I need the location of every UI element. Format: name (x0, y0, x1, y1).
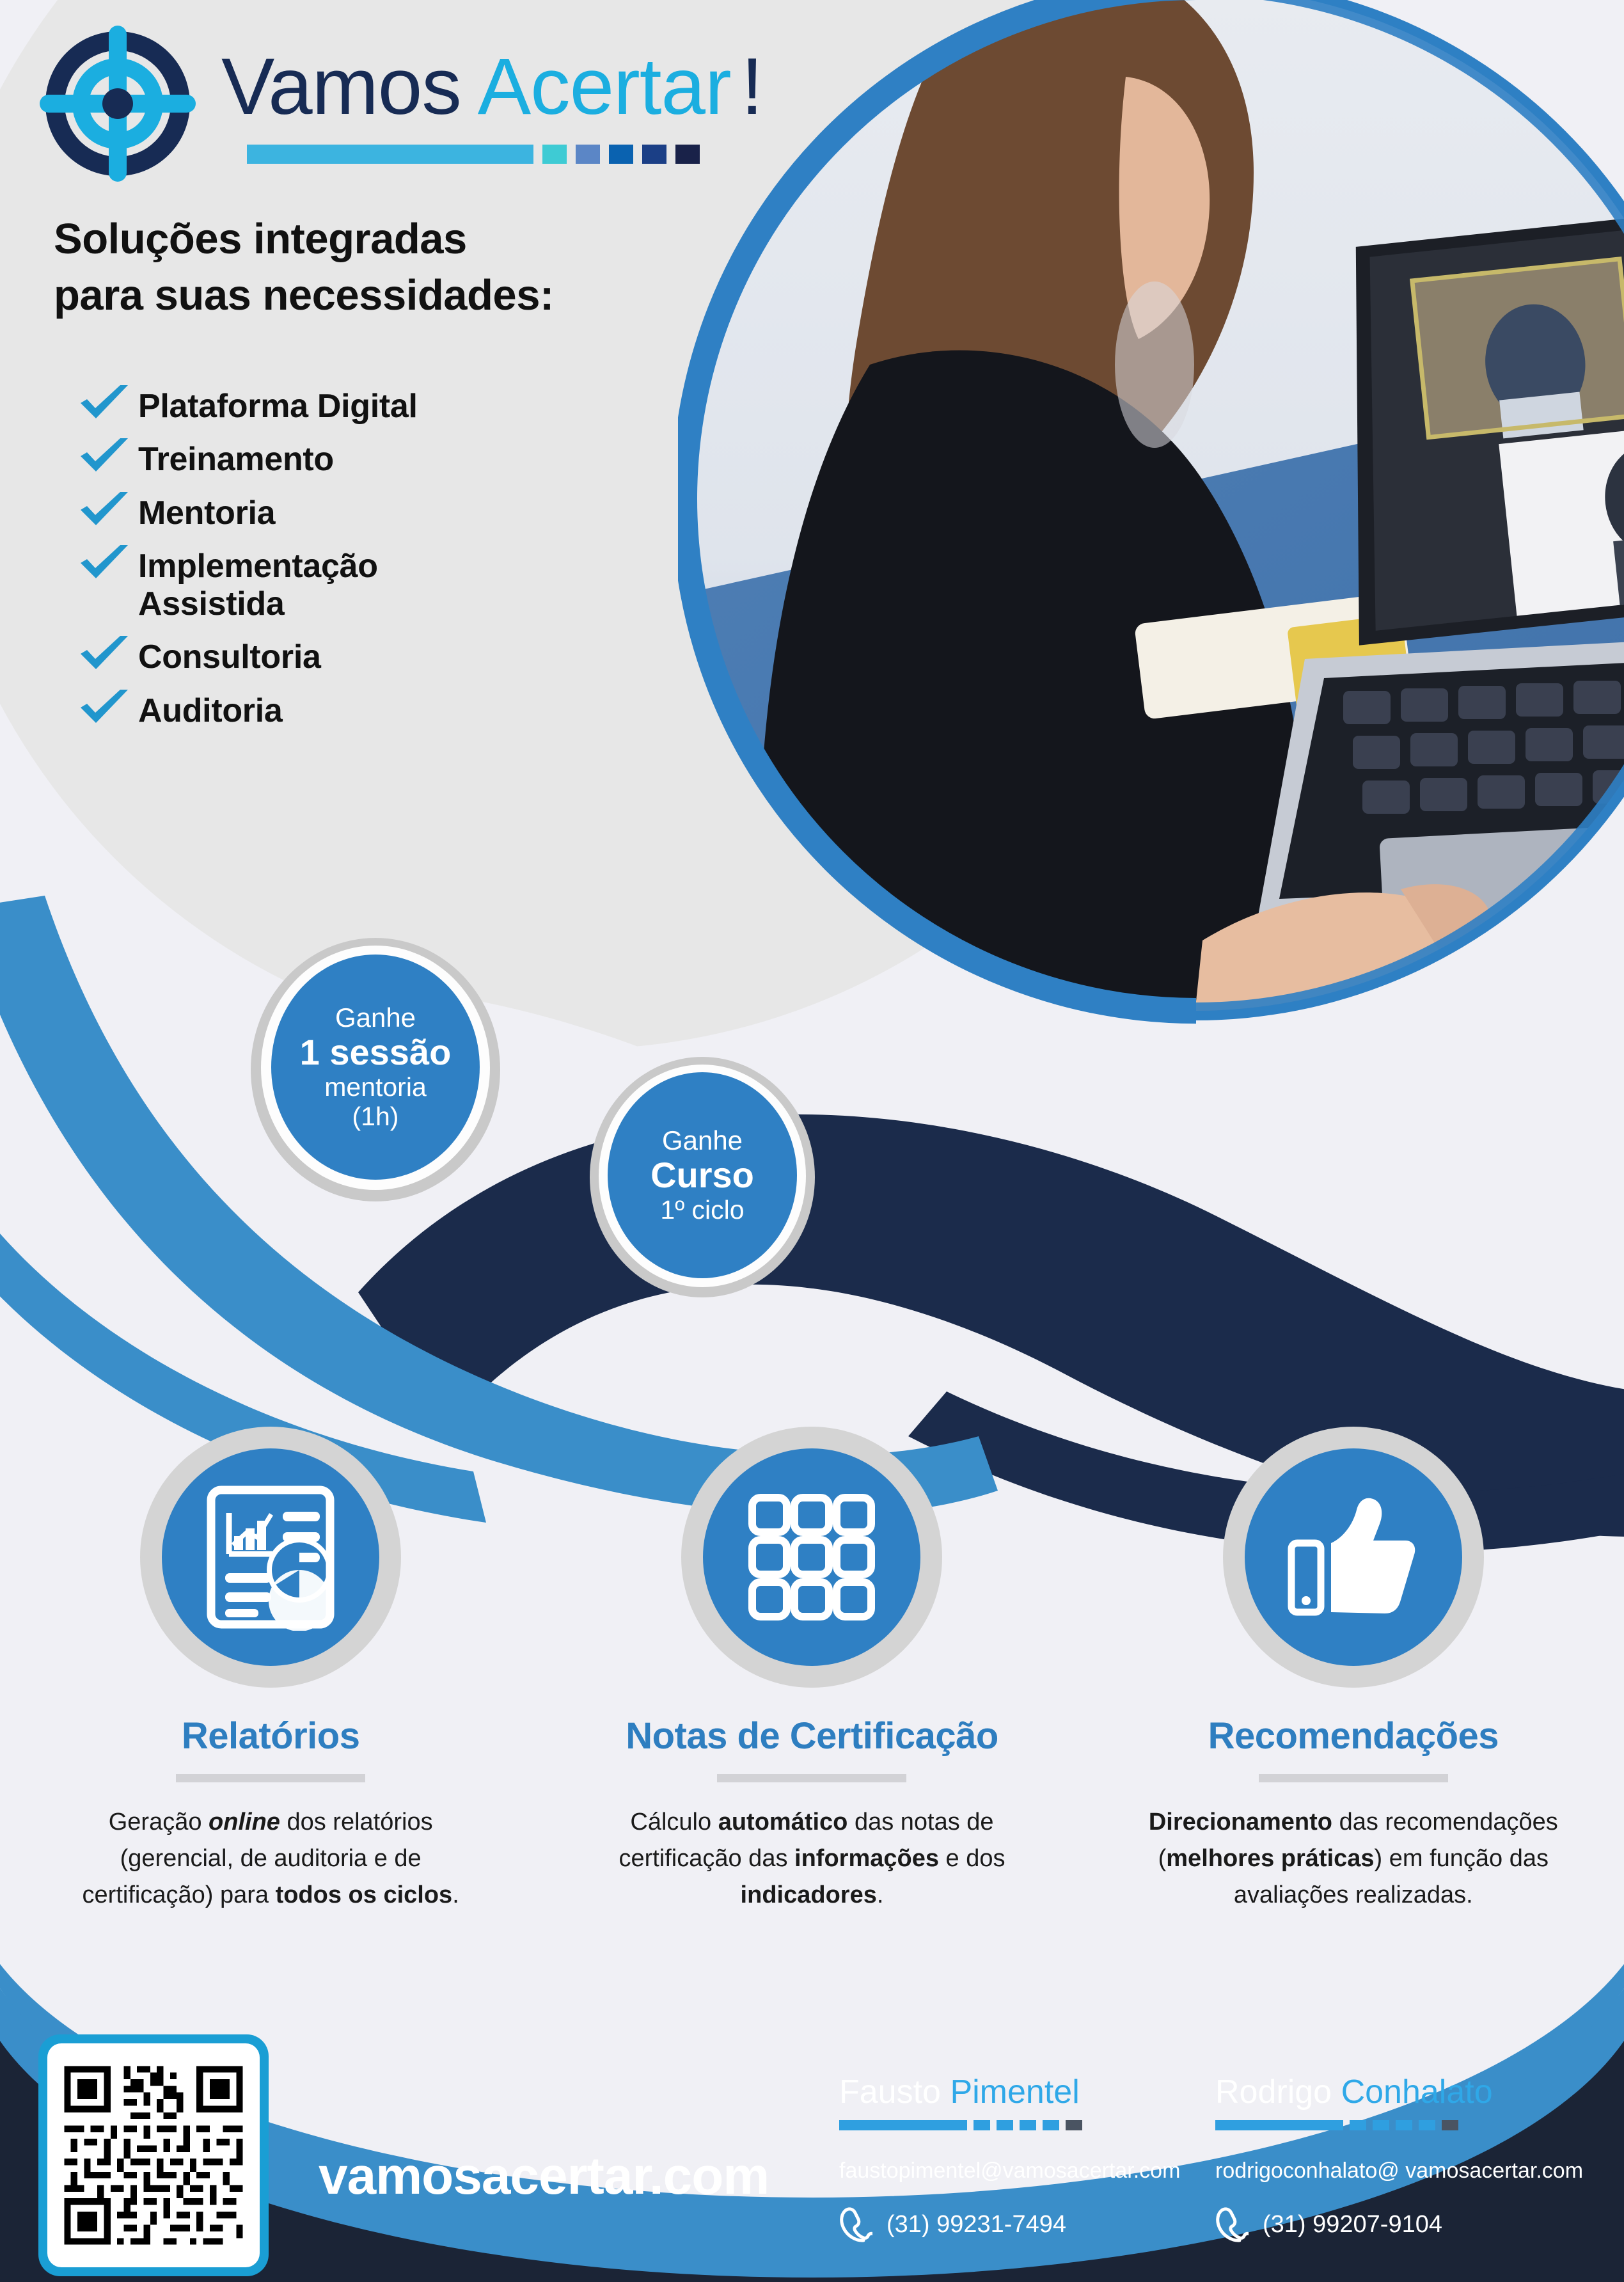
check-mark-icon (77, 491, 132, 530)
checklist-item: Implementação Assistida (77, 544, 652, 624)
brand-name-part1: Vamos (221, 42, 461, 131)
contact-1-first-name: Fausto (839, 2073, 941, 2111)
brand-name-part2: Acertar (478, 42, 731, 131)
check-mark-icon (77, 635, 132, 674)
contact-1-dash-5 (1066, 2120, 1082, 2130)
contact-2-dash-long (1215, 2120, 1343, 2130)
contact-1-phone-row[interactable]: (31) 99231-7494 (839, 2207, 1261, 2242)
hero-photo (678, 0, 1624, 1081)
phone-handset-icon (839, 2207, 872, 2242)
feature-recomendacoes: Recomendações Direcionamento das recomen… (1083, 1427, 1624, 1914)
checklist-item: Plataforma Digital (77, 384, 652, 425)
badge-2-line3: 1º ciclo (660, 1196, 744, 1225)
feature-description: Geração online dos relatórios (gerencial… (59, 1804, 482, 1914)
qr-code-icon (58, 2053, 249, 2258)
contact-card-1: Fausto Pimentel faustopimentel@vamosacer… (839, 2073, 1261, 2242)
badge-2-line1: Ganhe (662, 1125, 743, 1155)
services-checklist: Plataforma Digital Treinamento Mentoria … (77, 384, 652, 741)
badge-1-line2: 1 sessão (300, 1033, 452, 1073)
feature-icon-circle (162, 1448, 379, 1666)
checklist-label: Mentoria (138, 491, 275, 532)
contact-2-dash-1 (1350, 2120, 1366, 2130)
contact-2-dash-bar (1215, 2120, 1624, 2130)
feature-divider (717, 1774, 906, 1782)
brand-wordmark: VamosAcertar! (221, 41, 763, 132)
logo-dash-long (247, 145, 533, 164)
contact-1-name: Fausto Pimentel (839, 2073, 1261, 2111)
logo-dash-5 (675, 145, 700, 164)
headline-line-1: Soluções integradas (54, 211, 668, 267)
contact-card-2: Rodrigo Conhalato rodrigoconhalato@ vamo… (1215, 2073, 1624, 2242)
contact-2-phone: (31) 99207-9104 (1263, 2211, 1442, 2238)
feature-notas-certificacao: Notas de Certificação Cálculo automático… (541, 1427, 1082, 1914)
feature-divider (1259, 1774, 1448, 1782)
brand-name-punct: ! (741, 42, 764, 131)
phone-handset-icon (1215, 2207, 1249, 2242)
feature-title: Notas de Certificação (626, 1715, 998, 1757)
contact-1-dash-1 (974, 2120, 990, 2130)
headline: Soluções integradas para suas necessidad… (54, 211, 668, 324)
checklist-label: Plataforma Digital (138, 384, 418, 425)
badge-1-line4: (1h) (352, 1102, 399, 1132)
feature-title: Recomendações (1208, 1715, 1499, 1757)
logo-dash-2 (576, 145, 600, 164)
report-chart-document-icon (203, 1484, 338, 1631)
checklist-item: Mentoria (77, 491, 652, 532)
checklist-item: Auditoria (77, 688, 652, 730)
feature-divider (176, 1774, 365, 1782)
logo-dash-3 (609, 145, 633, 164)
badge-2-line2: Curso (650, 1155, 754, 1196)
grid-nine-squares-icon (745, 1490, 879, 1624)
logo-dash-1 (542, 145, 567, 164)
contact-1-dash-4 (1043, 2120, 1059, 2130)
contact-1-email[interactable]: faustopimentel@vamosacertar.com (839, 2159, 1261, 2183)
website-url[interactable]: vamosacertar.com (319, 2146, 769, 2207)
contact-2-phone-row[interactable]: (31) 99207-9104 (1215, 2207, 1624, 2242)
feature-icon-ring (1223, 1427, 1484, 1688)
contact-2-first-name: Rodrigo (1215, 2073, 1332, 2111)
feature-title: Relatórios (182, 1715, 360, 1757)
brand-logo[interactable]: VamosAcertar! (32, 18, 704, 184)
contact-2-last-name: Conhalato (1341, 2073, 1493, 2111)
contact-1-dash-3 (1020, 2120, 1036, 2130)
contact-2-dash-4 (1419, 2120, 1435, 2130)
contact-2-email[interactable]: rodrigoconhalato@ vamosacertar.com (1215, 2159, 1624, 2183)
contact-2-name: Rodrigo Conhalato (1215, 2073, 1624, 2111)
promo-badge-curso[interactable]: Ganhe Curso 1º ciclo (608, 1072, 797, 1278)
check-mark-icon (77, 544, 132, 583)
checklist-label: Consultoria (138, 635, 321, 676)
feature-icon-circle (1245, 1448, 1462, 1666)
features-section: Relatórios Geração online dos relatórios… (0, 1427, 1624, 1914)
logo-dash-4 (642, 145, 666, 164)
qr-code-frame[interactable] (38, 2034, 269, 2276)
check-mark-icon (77, 437, 132, 477)
check-mark-icon (77, 688, 132, 728)
feature-icon-ring (681, 1427, 942, 1688)
contact-1-dash-bar (839, 2120, 1261, 2130)
checklist-item: Consultoria (77, 635, 652, 676)
feature-description: Direcionamento das recomendações (melhor… (1142, 1804, 1565, 1914)
feature-relatorios: Relatórios Geração online dos relatórios… (0, 1427, 541, 1914)
promo-badge-mentoria[interactable]: Ganhe 1 sessão mentoria (1h) (271, 955, 480, 1180)
checklist-item: Treinamento (77, 437, 652, 479)
badge-1-line3: mentoria (324, 1073, 427, 1102)
checklist-label: Treinamento (138, 437, 334, 479)
contact-1-dash-long (839, 2120, 967, 2130)
poster-canvas: VamosAcertar! Soluções integradas para s… (0, 0, 1624, 2282)
feature-icon-circle (703, 1448, 920, 1666)
contact-2-dash-5 (1442, 2120, 1458, 2130)
checklist-label: Implementação Assistida (138, 544, 496, 624)
badge-1-line1: Ganhe (335, 1002, 416, 1033)
feature-description: Cálculo automático das notas de certific… (601, 1804, 1023, 1914)
thumbs-up-icon (1286, 1493, 1421, 1621)
contact-1-phone: (31) 99231-7494 (887, 2211, 1066, 2238)
contact-1-last-name: Pimentel (950, 2073, 1079, 2111)
qr-code-inner (47, 2043, 260, 2267)
check-mark-icon (77, 384, 132, 424)
contact-2-dash-3 (1396, 2120, 1412, 2130)
contact-2-dash-2 (1373, 2120, 1389, 2130)
feature-icon-ring (140, 1427, 401, 1688)
contact-1-dash-2 (997, 2120, 1013, 2130)
checklist-label: Auditoria (138, 688, 283, 730)
target-crosshair-icon (32, 23, 203, 184)
headline-line-2: para suas necessidades: (54, 267, 668, 324)
logo-dash-bar (247, 145, 700, 164)
